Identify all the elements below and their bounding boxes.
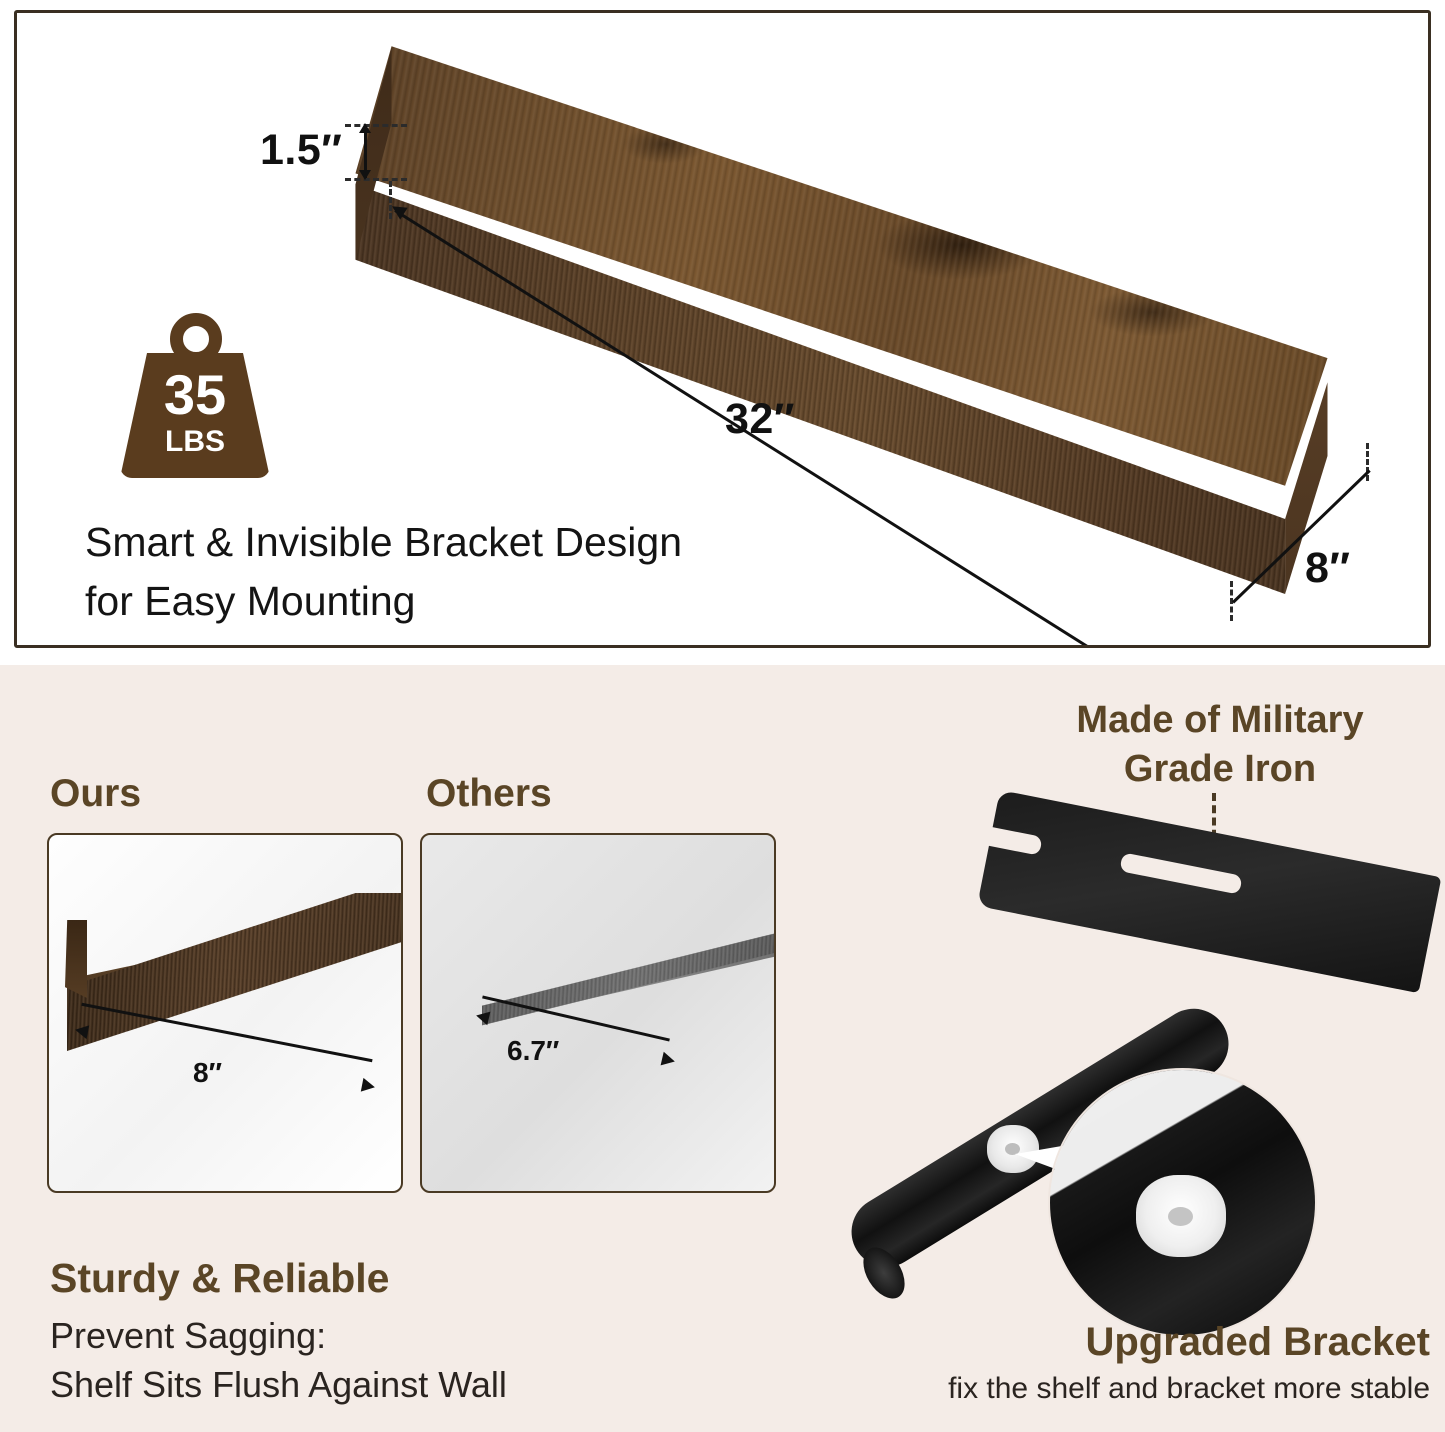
others-depth-dimension-label: 6.7″ [507, 1035, 559, 1067]
thickness-guide-top [345, 124, 407, 127]
weight-value: 35 [120, 367, 270, 423]
top-panel: 1.5″ 32″ 8″ 35 LBS Smart & Invisible Bra… [14, 10, 1431, 648]
thickness-guide-bottom [345, 178, 407, 181]
sturdy-subtext-line-2: Shelf Sits Flush Against Wall [50, 1361, 507, 1410]
sturdy-subtext: Prevent Sagging: Shelf Sits Flush Agains… [50, 1312, 507, 1409]
product-infographic: 1.5″ 32″ 8″ 35 LBS Smart & Invisible Bra… [0, 0, 1445, 1432]
magnified-screw [1136, 1175, 1226, 1257]
dimension-length-label: 32″ [725, 395, 795, 444]
ours-depth-arrow [81, 1003, 372, 1062]
weight-unit: LBS [120, 427, 270, 457]
military-grade-callout: Made of Military Grade Iron [1020, 696, 1420, 793]
bracket-illustration [865, 780, 1445, 1325]
bracket-wall-plate [977, 790, 1441, 993]
upgraded-bracket-title: Upgraded Bracket [960, 1320, 1430, 1365]
caption-line-1: Smart & Invisible Bracket Design [85, 519, 682, 565]
comparison-others-label: Others [426, 772, 552, 816]
caption-line-2: for Easy Mounting [85, 572, 875, 631]
others-depth-arrow-head-right [661, 1052, 677, 1069]
ours-depth-arrow-head-right [361, 1078, 376, 1094]
thickness-arrow-head-down [359, 170, 371, 180]
magnifier-circle [1050, 1070, 1315, 1335]
sturdy-headline: Sturdy & Reliable [50, 1255, 389, 1302]
dimension-depth-label: 8″ [1305, 544, 1351, 593]
ours-board-end-cap [65, 920, 87, 998]
sturdy-subtext-line-1: Prevent Sagging: [50, 1315, 326, 1356]
ours-depth-arrow-head-left [74, 1023, 89, 1039]
comparison-card-ours [47, 833, 403, 1193]
dimension-thickness-label: 1.5″ [260, 126, 342, 175]
top-panel-inner: 1.5″ 32″ 8″ 35 LBS Smart & Invisible Bra… [17, 13, 1428, 645]
ours-board-front-edge [67, 893, 403, 1093]
upgraded-bracket-subtext: fix the shelf and bracket more stable [760, 1372, 1430, 1406]
thickness-arrow-head-up [359, 123, 371, 133]
top-panel-caption: Smart & Invisible Bracket Design for Eas… [85, 513, 875, 632]
ours-depth-dimension-label: 8″ [193, 1057, 222, 1089]
weight-capacity-badge: 35 LBS [120, 313, 270, 478]
comparison-ours-label: Ours [50, 772, 141, 816]
military-grade-line-1: Made of Military [1076, 699, 1363, 741]
comparison-card-others [420, 833, 776, 1193]
